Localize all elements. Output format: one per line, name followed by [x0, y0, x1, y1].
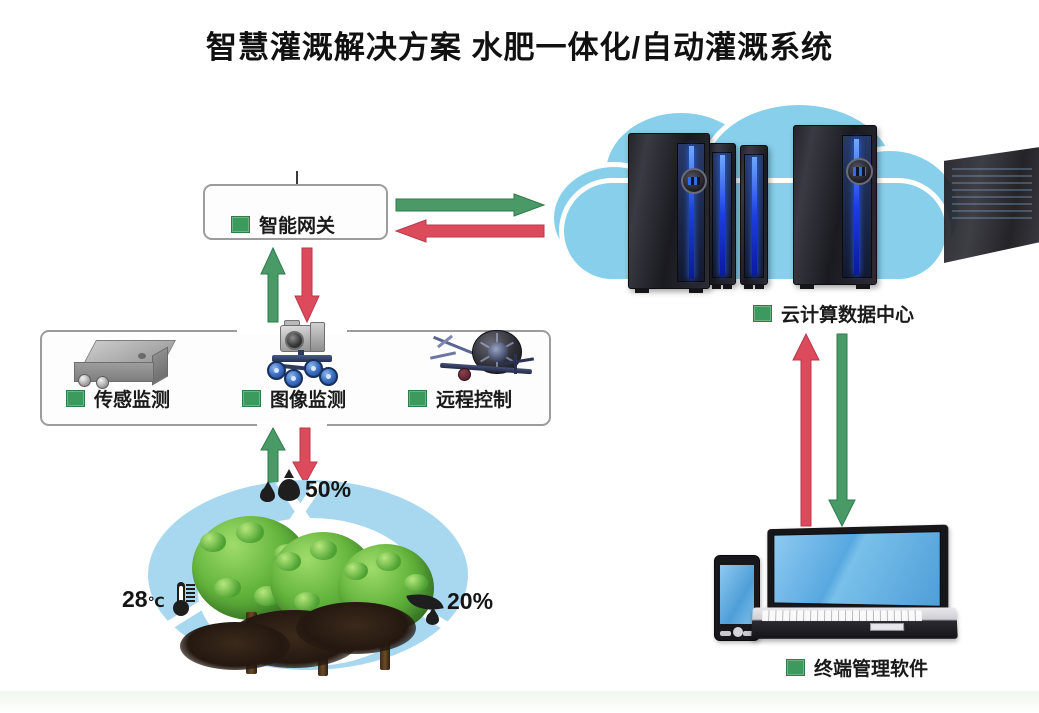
reading-humidity: 50%: [260, 476, 351, 503]
reading-temperature: 28℃: [122, 582, 192, 616]
bullet-square-icon: [753, 305, 772, 322]
leaf-icon: [406, 588, 443, 615]
diagram-canvas: 智慧灌溉解决方案 水肥一体化/自动灌溉系统: [0, 0, 1039, 713]
bullet-square-icon: [66, 390, 85, 407]
server-rack-icon: [793, 125, 877, 285]
bottom-fade-band: [0, 691, 1039, 713]
sensor-box-icon: [72, 338, 172, 390]
camera-rover-icon: [266, 325, 340, 391]
thermometer-icon: [170, 582, 192, 616]
label-text: 云计算数据中心: [781, 300, 914, 327]
water-drop-icon: [426, 612, 439, 625]
soil-mound: [180, 622, 290, 670]
device-label-remote: 远程控制: [408, 385, 512, 412]
arrow-gateway-to-devices: [295, 248, 319, 322]
laptop-icon: [767, 525, 948, 616]
arrow-devices-to-gateway: [261, 248, 285, 322]
terminal-software-label: 终端管理软件: [786, 654, 928, 681]
water-drop-icon: [260, 487, 275, 502]
gateway-label: 智能网关: [231, 211, 335, 238]
laptop-base: [751, 607, 958, 638]
arrow-cloud-to-terminal: [829, 334, 855, 526]
bullet-square-icon: [242, 390, 261, 407]
arrow-terminal-to-cloud: [793, 334, 819, 526]
reading-leaf-moisture: 20%: [408, 588, 493, 615]
label-text: 终端管理软件: [814, 654, 928, 681]
reading-value: 28℃: [122, 586, 165, 613]
cloud-data-center-graphic: [540, 95, 1039, 295]
background-servers-icon: [944, 147, 1039, 263]
label-text: 智能网关: [259, 211, 335, 238]
bullet-square-icon: [408, 390, 427, 407]
page-title: 智慧灌溉解决方案 水肥一体化/自动灌溉系统: [0, 22, 1039, 67]
field-monitoring-graphic: 50% 28℃ 20%: [120, 470, 520, 700]
bullet-square-icon: [231, 216, 250, 233]
label-text: 远程控制: [436, 385, 512, 412]
irrigation-reel-icon: [430, 330, 534, 388]
bullet-square-icon: [786, 659, 805, 676]
server-rack-icon: [628, 133, 710, 289]
soil-mound: [296, 602, 416, 654]
water-drop-icon: [278, 479, 300, 501]
server-rack-icon: [740, 145, 768, 285]
reading-value: 50%: [305, 476, 351, 503]
server-rack-icon: [708, 143, 736, 285]
terminal-devices-graphic: [714, 527, 964, 652]
arrow-gateway-to-cloud: [396, 194, 544, 216]
reading-value: 20%: [447, 588, 493, 615]
arrow-cloud-to-gateway: [396, 220, 544, 242]
cloud-data-center-label: 云计算数据中心: [753, 300, 914, 327]
gateway-panel[interactable]: 智能网关: [203, 184, 388, 240]
